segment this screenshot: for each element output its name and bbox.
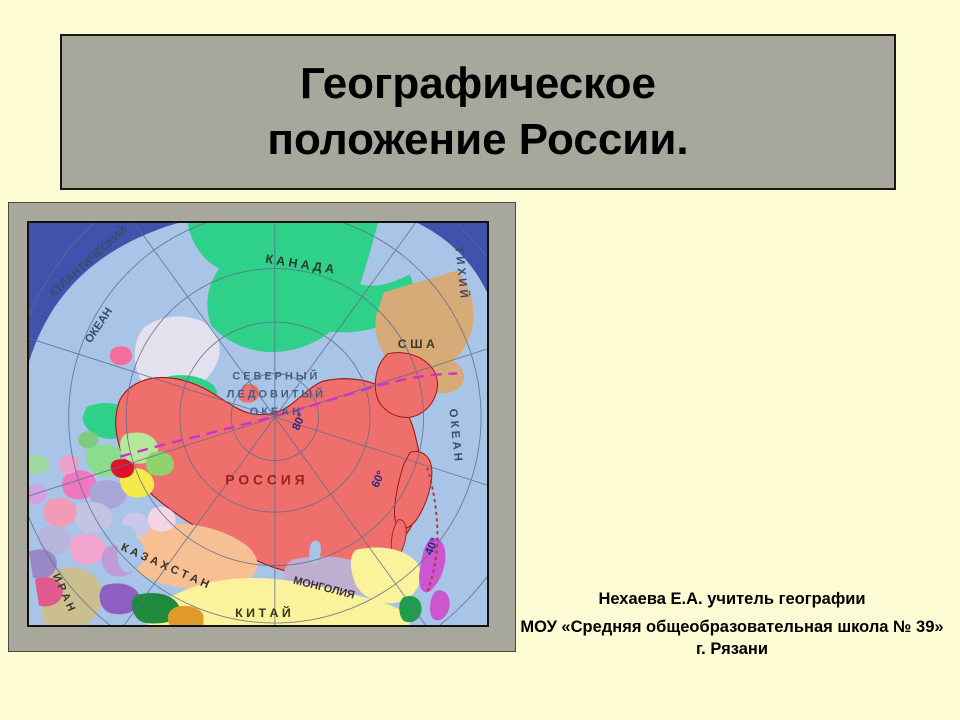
map-label-arctic-3: О К Е А Н (250, 406, 300, 418)
map-label-china: К И Т А Й (235, 605, 291, 620)
land-caucasus (148, 507, 176, 532)
map-frame: АТЛАНТИЧЕСКИЙ ОКЕАН К А Н А Д А С Ш А Т … (8, 202, 516, 652)
title-line-2: положение России. (267, 115, 688, 164)
polar-projection-map: АТЛАНТИЧЕСКИЙ ОКЕАН К А Н А Д А С Ш А Т … (29, 223, 487, 625)
map-label-russia: Р О С С И Я (225, 471, 304, 487)
author-school: МОУ «Средняя общеобразовательная школа №… (512, 616, 952, 661)
title-line-1: Географическое (300, 59, 656, 108)
title-box: Географическое положение России. (60, 34, 896, 190)
land-iceland (110, 346, 132, 365)
author-block: Нехаева Е.А. учитель географии МОУ «Сред… (512, 588, 952, 660)
page-title: Географическое положение России. (257, 56, 698, 169)
map-label-usa: С Ш А (398, 337, 435, 351)
land-north-europe-2 (146, 451, 174, 476)
map-label-arctic-2: Л Е Д О В И Т Ы Й (227, 387, 323, 400)
map-image: АТЛАНТИЧЕСКИЙ ОКЕАН К А Н А Д А С Ш А Т … (27, 221, 489, 627)
map-label-arctic-1: С Е В Е Р Н Ы Й (232, 369, 317, 382)
author-name: Нехаева Е.А. учитель географии (512, 588, 952, 612)
